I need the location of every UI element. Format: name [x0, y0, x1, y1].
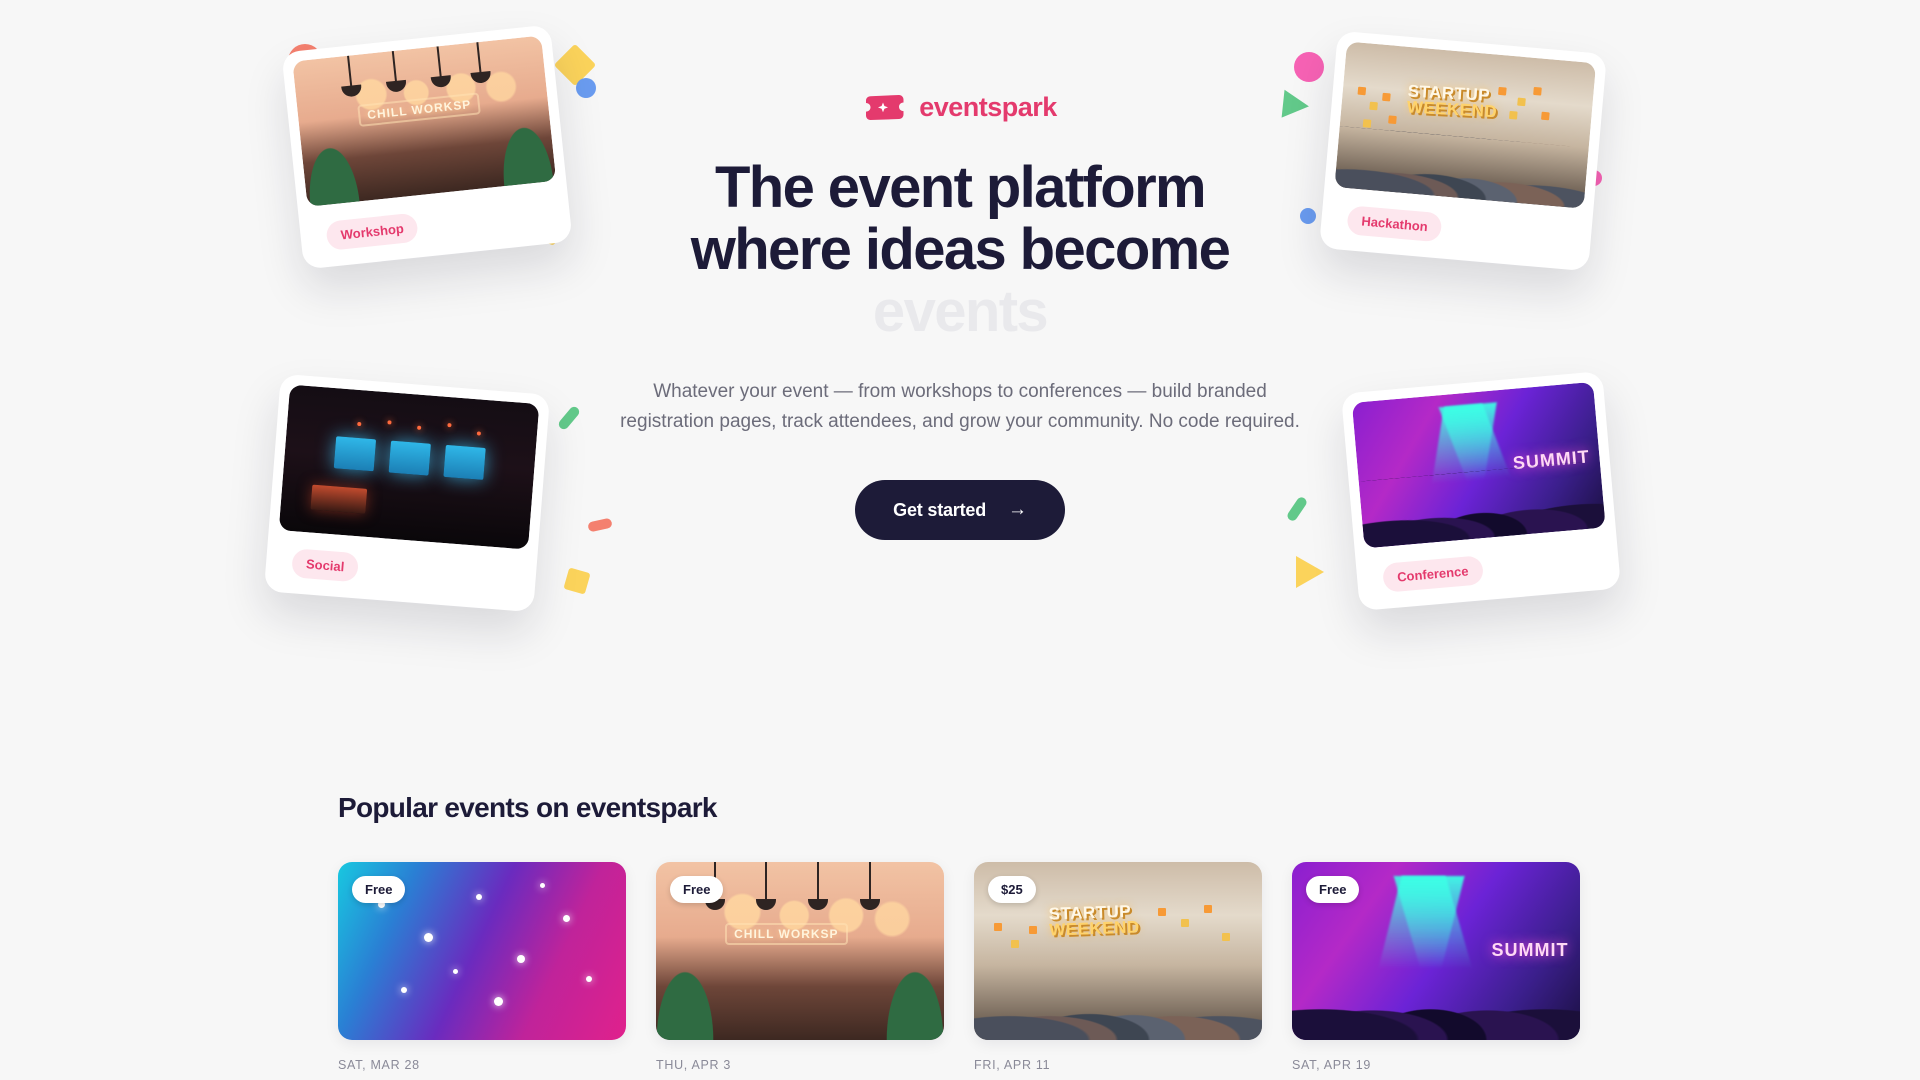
event-card-ai-hackathon[interactable]: Free SAT, MAR 28 AI hackathon	[338, 862, 626, 1080]
workshop-neon-caption: CHILL WORKSP	[725, 923, 847, 945]
social-badge: Social	[291, 548, 359, 582]
event-date: SAT, MAR 28	[338, 1058, 626, 1072]
conference-badge: Conference	[1382, 555, 1484, 593]
hackathon-thumbnail: STARTUPWEEKEND	[1334, 41, 1596, 208]
hackathon-wall-caption: STARTUPWEEKEND	[1406, 84, 1498, 121]
get-started-button[interactable]: Get started →	[855, 480, 1065, 540]
event-date: THU, APR 3	[656, 1058, 944, 1072]
price-badge: Free	[670, 876, 723, 903]
event-card-startup-weekend[interactable]: $25 STARTUPWEEKEND FRI, APR 11	[974, 862, 1262, 1080]
workshop-neon-caption: CHILL WORKSP	[357, 92, 481, 127]
brand-logo[interactable]: eventspark	[580, 92, 1340, 123]
price-badge: $25	[988, 876, 1036, 903]
floating-card-workshop[interactable]: CHILL WORKSP Workshop	[281, 24, 572, 269]
price-badge: Free	[1306, 876, 1359, 903]
workshop-badge: Workshop	[325, 212, 419, 250]
hackathon-badge: Hackathon	[1346, 205, 1443, 242]
ticket-icon	[863, 93, 907, 123]
floating-card-social[interactable]: Social	[264, 374, 550, 613]
event-thumbnail: Free	[338, 862, 626, 1040]
headline-line-2: where ideas become	[691, 217, 1230, 282]
deco-circle-pink	[1294, 52, 1324, 82]
conference-thumbnail: SUMMIT	[1352, 382, 1606, 549]
price-badge: Free	[352, 876, 405, 903]
arrow-right-icon: →	[1008, 499, 1027, 521]
event-thumbnail: Free CHILL WORKSP	[656, 862, 944, 1040]
headline-line-1: The event platform	[715, 155, 1205, 220]
hero-subtitle: Whatever your event — from workshops to …	[580, 377, 1340, 436]
popular-events-title: Popular events on eventspark	[338, 792, 1920, 824]
deco-bar-green	[557, 405, 581, 431]
headline-rotating-word: events	[580, 281, 1340, 343]
popular-events-grid: Free SAT, MAR 28 AI hackathon	[338, 862, 1583, 1080]
deco-square-yellow-3	[563, 567, 590, 594]
floating-card-conference[interactable]: SUMMIT Conference	[1341, 371, 1621, 611]
workshop-thumbnail: CHILL WORKSP	[292, 35, 556, 206]
event-card-chill-workshop[interactable]: Free CHILL WORKSP THU, APR 3 Chill works…	[656, 862, 944, 1080]
brand-name: eventspark	[919, 92, 1057, 123]
event-thumbnail: $25 STARTUPWEEKEND	[974, 862, 1262, 1040]
popular-events-section: Popular events on eventspark Free	[0, 740, 1920, 1080]
hackathon-wall-caption: STARTUPWEEKEND	[1048, 903, 1139, 938]
hero-content: eventspark The event platform where idea…	[580, 92, 1340, 540]
deco-triangle-yellow	[1296, 556, 1324, 588]
event-thumbnail: Free SUMMIT	[1292, 862, 1580, 1040]
hero-section: CHILL WORKSP Workshop	[0, 0, 1920, 740]
event-date: FRI, APR 11	[974, 1058, 1262, 1072]
social-thumbnail	[279, 384, 540, 549]
get-started-label: Get started	[893, 500, 986, 521]
floating-card-hackathon[interactable]: STARTUPWEEKEND Hackathon	[1319, 31, 1607, 272]
page-title: The event platform where ideas become ev…	[580, 157, 1340, 343]
event-card-vibe-coding-summit[interactable]: Free SUMMIT SAT, APR 19 Vibe coding summ…	[1292, 862, 1580, 1080]
event-date: SAT, APR 19	[1292, 1058, 1580, 1072]
